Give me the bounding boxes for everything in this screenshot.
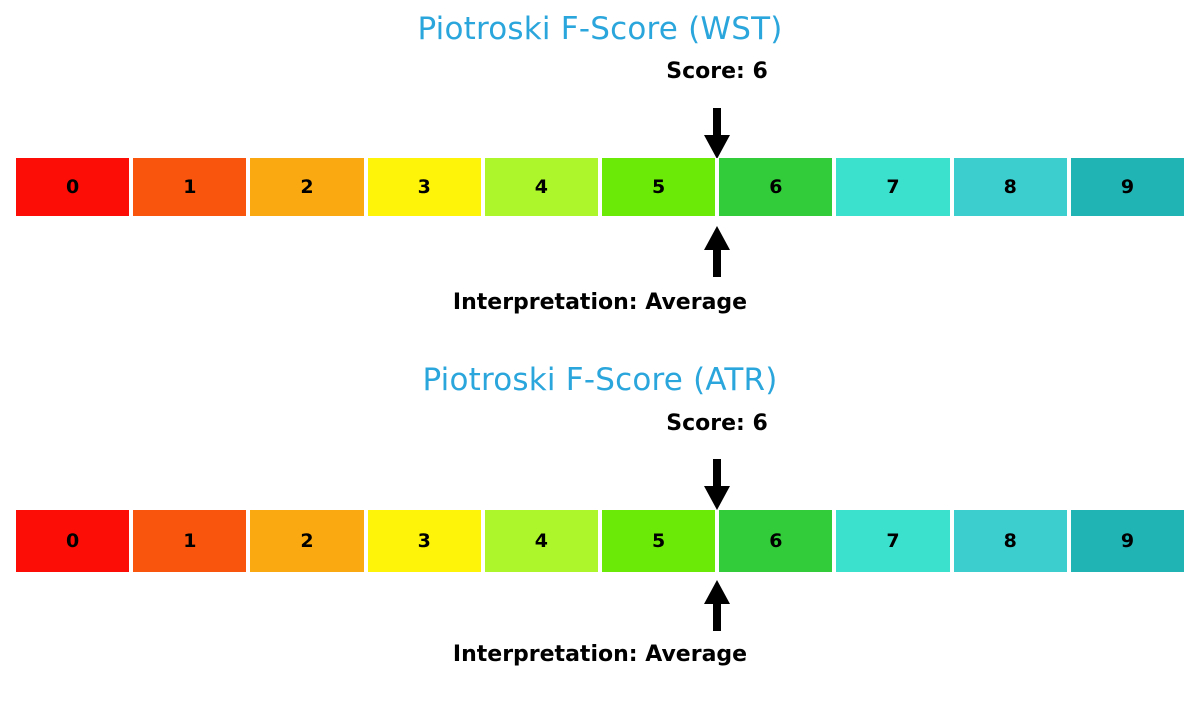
bar-segment-0[interactable]: 0 <box>16 158 131 216</box>
interpretation-label-atr: Interpretation: Average <box>453 644 747 666</box>
score-label-atr: Score: 6 <box>666 413 768 435</box>
bar-segment-label: 4 <box>535 178 548 197</box>
bar-segment-4[interactable]: 4 <box>483 510 600 572</box>
bar-segment-label: 9 <box>1121 532 1134 551</box>
score-bar-wst: 0 1 2 3 4 5 6 7 8 9 <box>16 158 1184 216</box>
bar-segment-label: 5 <box>652 532 665 551</box>
bar-segment-label: 3 <box>418 178 431 197</box>
interpretation-label-wst: Interpretation: Average <box>453 292 747 314</box>
bar-segment-label: 7 <box>886 178 899 197</box>
bar-segment-label: 4 <box>535 532 548 551</box>
bar-segment-9[interactable]: 9 <box>1069 510 1184 572</box>
bar-segment-1[interactable]: 1 <box>131 158 248 216</box>
interpretation-up-arrow-wst <box>702 225 732 277</box>
bar-segment-label: 2 <box>300 532 313 551</box>
bar-segment-2[interactable]: 2 <box>248 510 365 572</box>
bar-segment-label: 0 <box>66 532 79 551</box>
bar-segment-3[interactable]: 3 <box>366 510 483 572</box>
bar-segment-7[interactable]: 7 <box>834 510 951 572</box>
interpretation-up-arrow-atr <box>702 579 732 631</box>
bar-segment-label: 9 <box>1121 178 1134 197</box>
bar-segment-9[interactable]: 9 <box>1069 158 1184 216</box>
bar-segment-6[interactable]: 6 <box>717 158 834 216</box>
bar-segment-label: 3 <box>418 532 431 551</box>
bar-segment-8[interactable]: 8 <box>952 510 1069 572</box>
score-marker-down-arrow-wst <box>702 108 732 160</box>
bar-segment-7[interactable]: 7 <box>834 158 951 216</box>
bar-segment-label: 6 <box>769 532 782 551</box>
bar-segment-6[interactable]: 6 <box>717 510 834 572</box>
bar-segment-label: 8 <box>1004 178 1017 197</box>
bar-segment-label: 1 <box>183 532 196 551</box>
score-marker-down-arrow-atr <box>702 459 732 511</box>
gauge-title-wst: Piotroski F-Score (WST) <box>0 14 1200 45</box>
score-bar-atr: 0 1 2 3 4 5 6 7 8 9 <box>16 510 1184 572</box>
bar-segment-label: 8 <box>1004 532 1017 551</box>
bar-segment-label: 6 <box>769 178 782 197</box>
bar-segment-0[interactable]: 0 <box>16 510 131 572</box>
bar-segment-1[interactable]: 1 <box>131 510 248 572</box>
bar-segment-label: 5 <box>652 178 665 197</box>
bar-segment-2[interactable]: 2 <box>248 158 365 216</box>
bar-segment-label: 7 <box>886 532 899 551</box>
bar-segment-label: 2 <box>300 178 313 197</box>
bar-segment-3[interactable]: 3 <box>366 158 483 216</box>
bar-segment-5[interactable]: 5 <box>600 158 717 216</box>
bar-segment-4[interactable]: 4 <box>483 158 600 216</box>
bar-segment-label: 0 <box>66 178 79 197</box>
bar-segment-8[interactable]: 8 <box>952 158 1069 216</box>
bar-segment-5[interactable]: 5 <box>600 510 717 572</box>
gauge-title-atr: Piotroski F-Score (ATR) <box>0 365 1200 396</box>
bar-segment-label: 1 <box>183 178 196 197</box>
score-label-wst: Score: 6 <box>666 61 768 83</box>
